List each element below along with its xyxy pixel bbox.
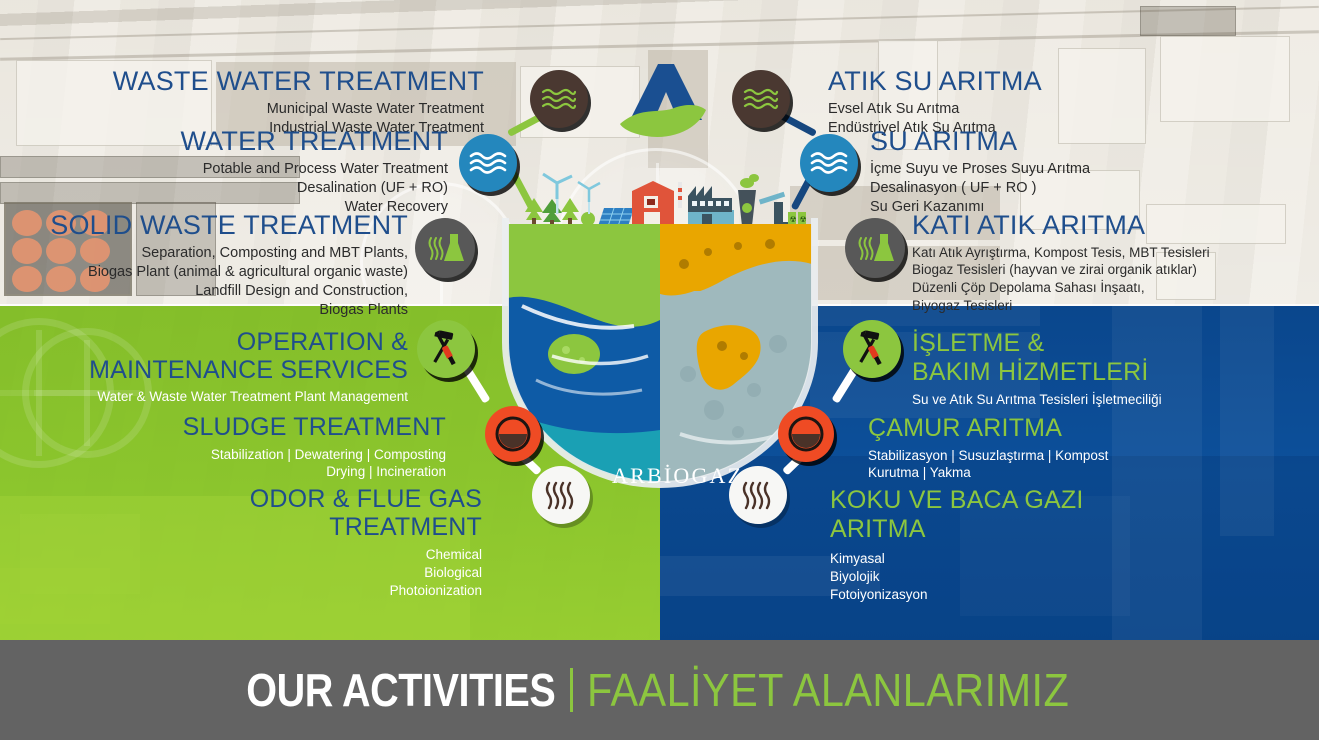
heading-odor-en-line2: TREATMENT <box>190 515 482 541</box>
arbiogaz-wordmark: ARBİOGAZ <box>612 463 743 489</box>
footer-banner: OUR ACTIVITIES FAALİYET ALANLARIMIZ <box>0 640 1319 740</box>
heading-isletme-tr-line2: BAKIM HİZMETLERİ <box>912 359 1292 386</box>
line-koku-tr-0: Kimyasal <box>830 550 1230 568</box>
waves-icon-badge-en <box>530 70 588 128</box>
green-field-overlay <box>0 568 110 624</box>
line-operation-en-0: Water & Waste Water Treatment Plant Mana… <box>60 388 408 406</box>
svg-text:☢: ☢ <box>790 215 797 224</box>
line-sludge-en-1: Drying | Incineration <box>150 463 446 481</box>
block-sludge-en: SLUDGE TREATMENT Stabilization | Dewater… <box>150 415 446 481</box>
line-isletme-tr-0: Su ve Atık Su Arıtma Tesisleri İşletmeci… <box>912 391 1292 409</box>
water-treatment-icon-badge-en <box>459 134 517 192</box>
flask-fumes-icon <box>425 229 465 267</box>
hammer-screwdriver-icon <box>426 329 466 369</box>
waves-icon-badge-tr <box>732 70 790 128</box>
heading-operation-en-line1: OPERATION & <box>60 330 408 356</box>
line-sludge-en-0: Stabilization | Dewatering | Composting <box>150 446 446 464</box>
line-kati-atik-tr-1: Biogaz Tesisleri (hayvan ve zirai organi… <box>912 261 1314 279</box>
line-camur-tr-0: Stabilizasyon | Susuzlaştırma | Kompost <box>868 447 1248 465</box>
hammer-screwdriver-icon <box>852 329 892 369</box>
arbiogaz-logo <box>612 62 708 142</box>
svg-text:☢: ☢ <box>800 215 807 224</box>
waves-icon <box>540 86 578 112</box>
sludge-tank-icon <box>786 414 826 454</box>
heading-odor-en-line1: ODOR & FLUE GAS <box>190 487 482 513</box>
heading-camur-tr: ÇAMUR ARITMA <box>868 415 1248 442</box>
sludge-icon-badge-en <box>485 406 541 462</box>
heading-koku-tr-line1: KOKU VE BACA GAZI <box>830 487 1230 514</box>
line-kati-atik-tr-2: Düzenli Çöp Depolama Sahası İnşaatı, <box>912 279 1314 297</box>
block-odor-en: ODOR & FLUE GAS TREATMENT Chemical Biolo… <box>190 487 482 599</box>
line-solid-waste-en-3: Biogas Plants <box>30 301 408 320</box>
line-water-treatment-en-1: Desalination (UF + RO) <box>80 179 448 198</box>
heading-water-treatment-en: WATER TREATMENT <box>80 128 448 156</box>
heading-waste-water-en: WASTE WATER TREATMENT <box>80 68 484 96</box>
line-atik-su-tr-0: Evsel Atık Su Arıtma <box>828 100 1248 119</box>
footer-separator <box>570 668 573 712</box>
block-solid-waste-en: SOLID WASTE TREATMENT Separation, Compos… <box>30 212 408 320</box>
line-camur-tr-1: Kurutma | Yakma <box>868 464 1248 482</box>
block-camur-tr: ÇAMUR ARITMA Stabilizasyon | Susuzlaştır… <box>868 415 1248 482</box>
line-su-aritma-tr-1: Desalinasyon ( UF + RO ) <box>870 179 1290 198</box>
block-kati-atik-tr: KATI ATIK ARITMA Katı Atık Ayrıştırma, K… <box>912 212 1314 315</box>
block-su-aritma-tr: SU ARITMA İçme Suyu ve Proses Suyu Arıtm… <box>870 128 1290 217</box>
waves-icon <box>468 150 508 176</box>
line-odor-en-2: Photoionization <box>190 582 482 600</box>
heading-sludge-en: SLUDGE TREATMENT <box>150 415 446 441</box>
odor-icon-badge-en <box>532 466 590 524</box>
solid-waste-icon-badge-tr <box>845 218 905 278</box>
water-treatment-icon-badge-tr <box>800 134 858 192</box>
globe-illustration: ☢ ☢ <box>508 168 812 498</box>
block-operation-en: OPERATION & MAINTENANCE SERVICES Water &… <box>60 330 408 406</box>
heading-atik-su-tr: ATIK SU ARITMA <box>828 68 1248 96</box>
smoke-waves-icon <box>543 478 579 512</box>
line-odor-en-1: Biological <box>190 564 482 582</box>
line-koku-tr-1: Biyolojik <box>830 568 1230 586</box>
line-solid-waste-en-1: Biogas Plant (animal & agricultural orga… <box>30 263 408 282</box>
infographic-poster: ☢ ☢ <box>0 0 1319 740</box>
heading-isletme-tr-line1: İŞLETME & <box>912 330 1292 357</box>
line-su-aritma-tr-0: İçme Suyu ve Proses Suyu Arıtma <box>870 160 1290 179</box>
waves-icon <box>742 86 780 112</box>
sludge-tank-icon <box>493 414 533 454</box>
block-koku-tr: KOKU VE BACA GAZI ARITMA Kimyasal Biyolo… <box>830 487 1230 603</box>
operation-icon-badge-en <box>417 320 475 378</box>
line-kati-atik-tr-3: Biyogaz Tesisleri <box>912 297 1314 315</box>
line-water-treatment-en-0: Potable and Process Water Treatment <box>80 160 448 179</box>
waves-icon <box>809 150 849 176</box>
line-kati-atik-tr-0: Katı Atık Ayrıştırma, Kompost Tesis, MBT… <box>912 244 1314 262</box>
heading-operation-en-line2: MAINTENANCE SERVICES <box>60 358 408 384</box>
heading-su-aritma-tr: SU ARITMA <box>870 128 1290 156</box>
city-skyline-illustration: ☢ ☢ <box>516 168 806 230</box>
block-water-treatment-en: WATER TREATMENT Potable and Process Wate… <box>80 128 448 217</box>
footer-title-tr: FAALİYET ALANLARIMIZ <box>587 663 1069 717</box>
sludge-icon-badge-tr <box>778 406 834 462</box>
line-solid-waste-en-0: Separation, Composting and MBT Plants, <box>30 244 408 263</box>
smoke-waves-icon <box>740 478 776 512</box>
line-koku-tr-2: Fotoiyonizasyon <box>830 586 1230 604</box>
solid-waste-icon-badge-en <box>415 218 475 278</box>
block-isletme-tr: İŞLETME & BAKIM HİZMETLERİ Su ve Atık Su… <box>912 330 1292 409</box>
heading-kati-atik-tr: KATI ATIK ARITMA <box>912 212 1314 240</box>
operation-icon-badge-tr <box>843 320 901 378</box>
heading-koku-tr-line2: ARITMA <box>830 516 1230 543</box>
line-odor-en-0: Chemical <box>190 546 482 564</box>
globe-graphic <box>508 224 812 482</box>
heading-solid-waste-en: SOLID WASTE TREATMENT <box>30 212 408 240</box>
flask-fumes-icon <box>855 229 895 267</box>
line-solid-waste-en-2: Landfill Design and Construction, <box>30 282 408 301</box>
line-waste-water-en-0: Municipal Waste Water Treatment <box>80 100 484 119</box>
aerial-structure <box>1140 6 1236 36</box>
footer-title-en: OUR ACTIVITIES <box>247 663 556 717</box>
odor-icon-badge-tr <box>729 466 787 524</box>
